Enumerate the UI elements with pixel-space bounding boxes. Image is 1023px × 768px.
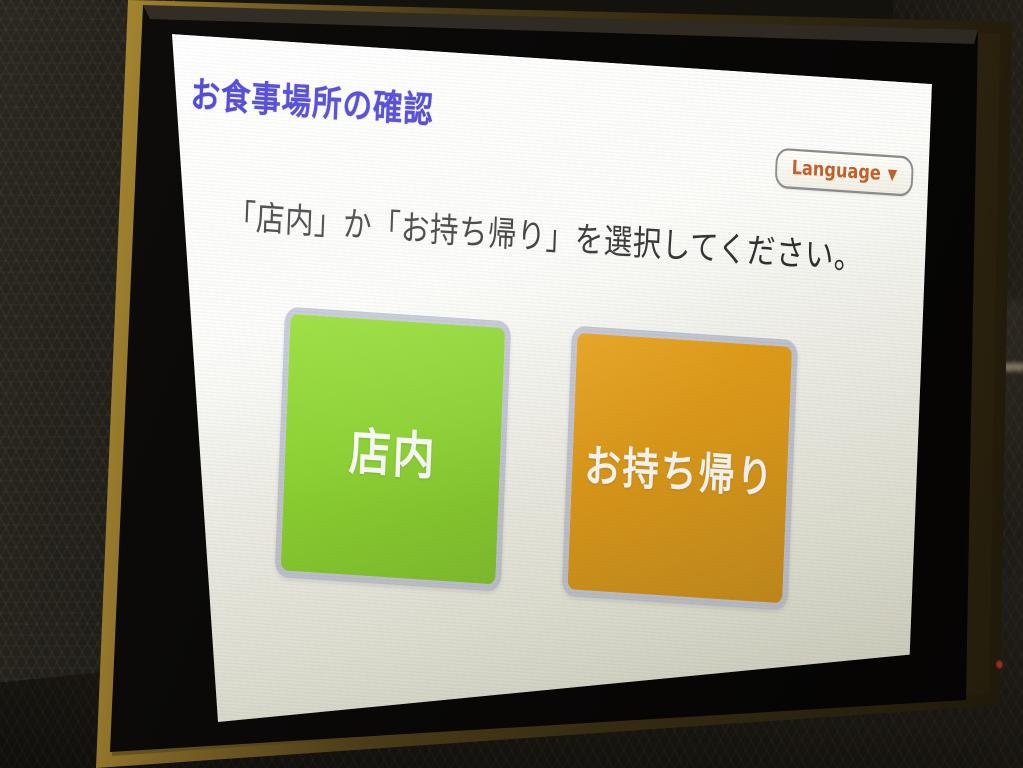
takeout-button-label: お持ち帰り [584, 430, 776, 506]
kiosk-photo-scene: お食事場所の確認 Language ▼ 「店内」か「お持ち帰り」を選択してくださ… [0, 0, 1023, 768]
language-button[interactable]: Language ▼ [775, 148, 914, 197]
takeout-button[interactable]: お持ち帰り [561, 326, 798, 611]
instruction-text: 「店内」か「お持ち帰り」を選択してください。 [164, 184, 926, 285]
kiosk-screen-content: お食事場所の確認 Language ▼ 「店内」か「お持ち帰り」を選択してくださ… [145, 34, 932, 768]
chevron-down-icon: ▼ [887, 167, 897, 183]
page-title: お食事場所の確認 [190, 65, 435, 133]
choice-button-group: 店内 お持ち帰り [151, 299, 922, 619]
language-button-label: Language [791, 157, 881, 186]
power-indicator-light [996, 660, 1003, 669]
dine-in-button-label: 店内 [348, 410, 438, 489]
dine-in-button[interactable]: 店内 [275, 307, 512, 592]
